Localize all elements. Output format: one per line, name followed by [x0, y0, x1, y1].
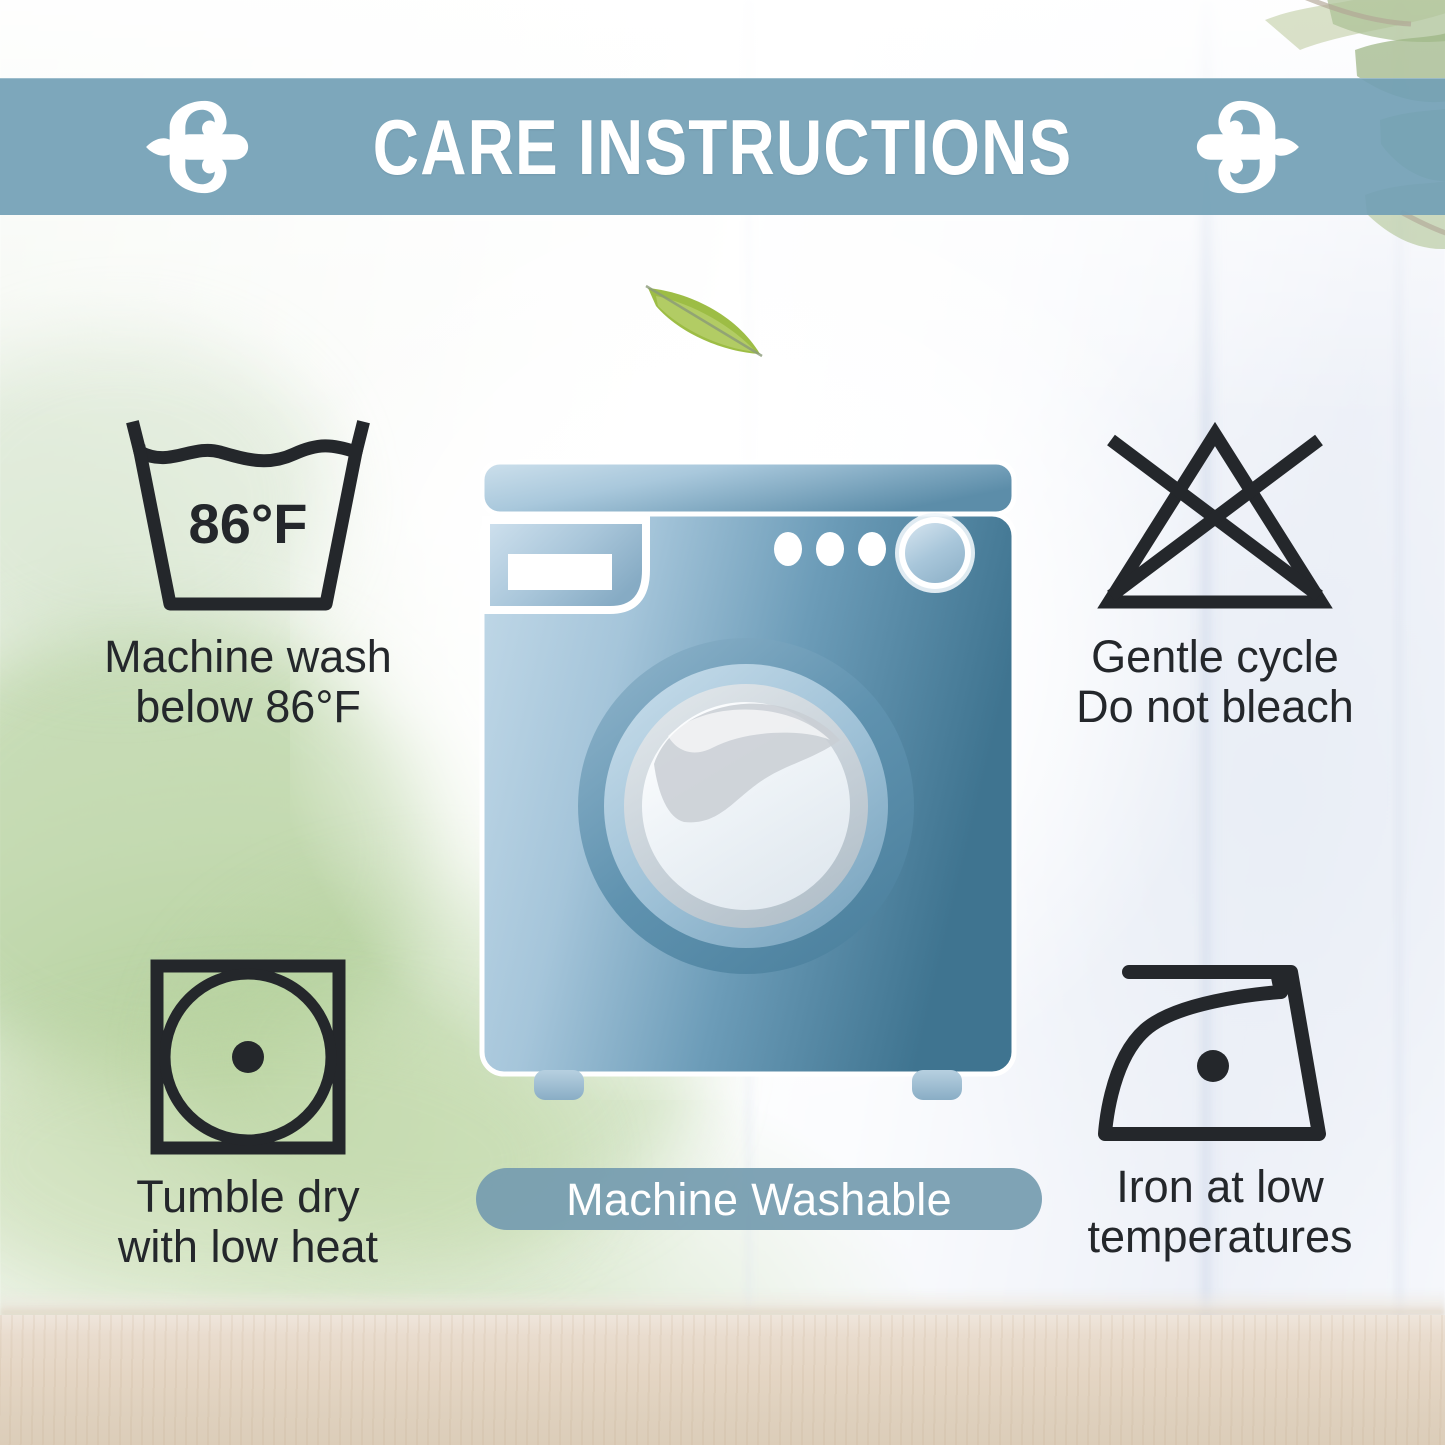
fleur-de-lis-icon	[1183, 95, 1301, 199]
crossed-triangle-icon	[1085, 418, 1345, 618]
caption-line-2: with low heat	[118, 1222, 378, 1272]
care-symbol-caption: Machine wash below 86°F	[104, 632, 392, 733]
machine-indicator-dots	[774, 532, 886, 566]
fleur-de-lis-icon	[144, 95, 262, 199]
page-title: CARE INSTRUCTIONS	[373, 108, 1073, 186]
washing-machine-illustration	[478, 458, 1018, 1118]
header-banner: CARE INSTRUCTIONS	[0, 78, 1445, 215]
care-symbol-tumble-dry: Tumble dry with low heat	[38, 958, 458, 1273]
care-symbol-caption: Gentle cycle Do not bleach	[1076, 632, 1354, 733]
wooden-table-surface	[0, 1315, 1445, 1445]
care-symbol-machine-wash: 86°F Machine wash below 86°F	[28, 418, 468, 733]
control-knob	[895, 513, 975, 593]
caption-line-2: below 86°F	[104, 682, 392, 732]
care-symbol-caption: Iron at low temperatures	[1087, 1162, 1352, 1263]
wash-temperature-value: 86°F	[189, 492, 308, 555]
iron-low-icon	[1095, 958, 1345, 1148]
caption-line-1: Iron at low	[1116, 1161, 1324, 1212]
machine-door	[578, 638, 914, 974]
floating-leaf-icon	[640, 272, 770, 362]
care-symbol-iron-low: Iron at low temperatures	[1010, 958, 1430, 1263]
machine-washable-badge: Machine Washable	[476, 1168, 1042, 1230]
detergent-drawer	[486, 520, 646, 610]
table-edge-shadow	[0, 1289, 1445, 1315]
caption-line-1: Tumble dry	[136, 1171, 359, 1222]
wash-tub-icon: 86°F	[118, 418, 378, 618]
machine-washable-label: Machine Washable	[566, 1177, 952, 1222]
tumble-dry-low-icon	[143, 958, 353, 1158]
caption-line-1: Gentle cycle	[1091, 631, 1339, 682]
caption-line-1: Machine wash	[104, 631, 392, 682]
caption-line-2: Do not bleach	[1076, 682, 1354, 732]
care-instructions-graphic: CARE INSTRUCTIONS 86°F Machine wash belo…	[0, 0, 1445, 1445]
care-symbol-do-not-bleach: Gentle cycle Do not bleach	[1000, 418, 1430, 733]
care-symbol-caption: Tumble dry with low heat	[118, 1172, 378, 1273]
machine-lid	[482, 462, 1014, 514]
caption-line-2: temperatures	[1087, 1212, 1352, 1262]
